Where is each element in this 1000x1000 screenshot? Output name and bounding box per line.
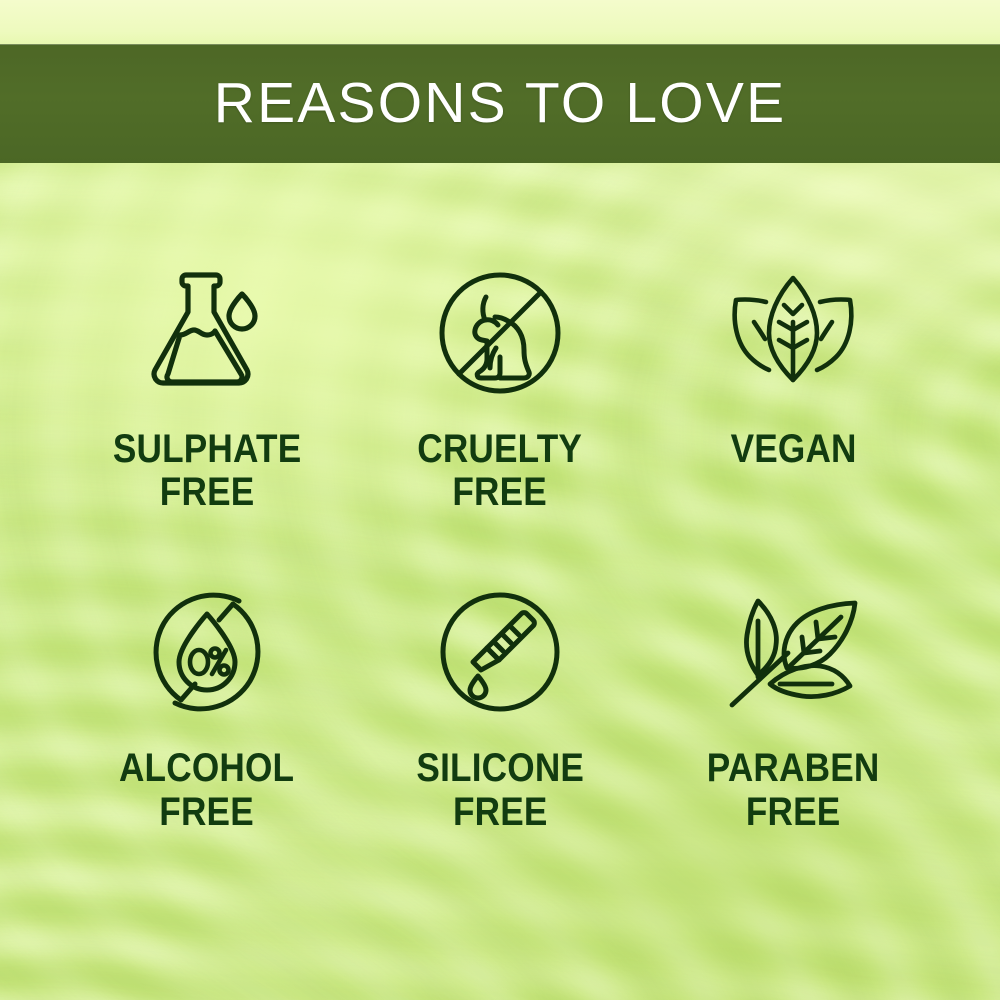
feature-vegan: VEGAN [647,255,940,514]
zero-percent-droplet-icon [137,574,277,729]
feature-label-line1: ALCOHOL [119,746,294,790]
feature-alcohol-free: ALCOHOL FREE [60,574,353,833]
pipette-dropper-icon [430,574,570,729]
header-banner: REASONS TO LOVE [0,44,1000,163]
page-title: REASONS TO LOVE [214,75,787,132]
three-leaves-icon [718,255,868,410]
feature-label-line2: FREE [418,471,583,514]
features-grid: SULPHATE FREE CRUELTY FREE [60,255,940,834]
feature-label: PARABEN FREE [707,747,880,833]
feature-label: VEGAN [730,428,856,471]
feature-label-line1: SULPHATE [112,427,300,471]
feature-label: ALCOHOL FREE [119,747,294,833]
feature-label-line1: PARABEN [707,746,880,790]
feature-label-line2: FREE [707,791,880,834]
feature-paraben-free: PARABEN FREE [647,574,940,833]
feature-silicone-free: SILICONE FREE [353,574,646,833]
feature-label: CRUELTY FREE [418,428,583,514]
feature-label-line2: FREE [112,471,300,514]
no-animal-testing-icon [430,255,570,410]
feature-label-line1: VEGAN [730,427,856,471]
feature-cruelty-free: CRUELTY FREE [353,255,646,514]
feature-label-line2: FREE [416,791,584,834]
feature-label-line1: SILICONE [416,746,584,790]
reasons-to-love-poster: REASONS TO LOVE SULPHATE FREE [0,0,1000,1000]
feature-label: SILICONE FREE [416,747,584,833]
feature-sulphate-free: SULPHATE FREE [60,255,353,514]
leaf-branch-icon [718,574,868,729]
flask-drop-icon [142,255,272,410]
feature-label-line2: FREE [119,791,294,834]
feature-label-line1: CRUELTY [418,427,583,471]
feature-label: SULPHATE FREE [112,428,300,514]
